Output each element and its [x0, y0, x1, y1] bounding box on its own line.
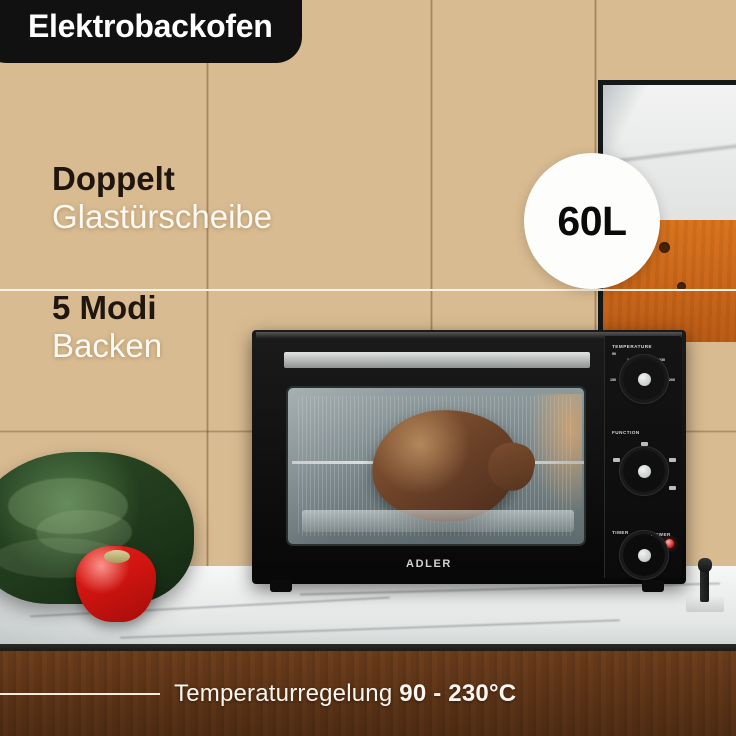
- red-bell-pepper: [76, 546, 156, 622]
- pepper-stem: [104, 550, 130, 563]
- temperature-tick-150: 150: [610, 378, 616, 382]
- function-knob-label: FUNCTION: [612, 430, 640, 435]
- feature-divider: [0, 289, 736, 291]
- board-hole: [659, 242, 670, 253]
- function-tick: [641, 442, 648, 446]
- temperature-tick-90: 90: [612, 352, 616, 356]
- bottom-banner: Temperaturregelung 90 - 230°C: [0, 651, 736, 736]
- title-badge: Elektrobackofen: [0, 0, 302, 63]
- timer-knob[interactable]: [623, 534, 665, 576]
- feature-subline: Glastürscheibe: [52, 198, 420, 236]
- oven-brand-logo: ADLER: [392, 556, 466, 572]
- feature-subline: Backen: [52, 327, 420, 365]
- power-led-indicator: [665, 539, 674, 548]
- oven-baking-tray: [302, 510, 574, 532]
- oven-foot: [642, 580, 664, 592]
- oven-glass-door[interactable]: [286, 386, 586, 546]
- feature-headline: Doppelt: [52, 160, 420, 198]
- feature-item-modes: 5 Modi Backen: [0, 289, 420, 366]
- feature-spacer: [0, 237, 420, 289]
- banner-rule: [0, 693, 160, 695]
- function-tick: [613, 458, 620, 462]
- electric-oven: ADLER TEMPERATURE 90 100 230 150 200 FUN…: [252, 330, 686, 592]
- banner-label: Temperaturregelung: [174, 680, 392, 707]
- brand-label: ADLER: [406, 558, 452, 570]
- temperature-knob-label: TEMPERATURE: [612, 344, 652, 349]
- volume-badge: 60L: [524, 153, 660, 289]
- temperature-tick-200: 200: [669, 378, 675, 382]
- feature-item-glass-door: Doppelt Glastürscheibe: [0, 160, 420, 237]
- feature-list: Doppelt Glastürscheibe 5 Modi Backen: [0, 160, 420, 365]
- temperature-tick-230: 230: [659, 358, 665, 362]
- page-title: Elektrobackofen: [28, 8, 272, 45]
- product-advertisement: ADLER TEMPERATURE 90 100 230 150 200 FUN…: [0, 0, 736, 736]
- function-tick: [669, 486, 676, 490]
- function-tick: [669, 458, 676, 462]
- timer-knob-label: TIMER: [612, 530, 629, 535]
- feature-headline: 5 Modi: [52, 289, 420, 327]
- oven-foot: [270, 580, 292, 592]
- oven-body: ADLER TEMPERATURE 90 100 230 150 200 FUN…: [252, 330, 686, 584]
- faucet-head: [698, 558, 712, 572]
- banner-value: 90 - 230°C: [399, 680, 516, 707]
- oven-interior-lamp-glow: [528, 394, 582, 514]
- temperature-knob[interactable]: [623, 358, 665, 400]
- oven-control-panel: TEMPERATURE 90 100 230 150 200 FUNCTION …: [604, 336, 682, 578]
- marble-vein: [120, 619, 620, 638]
- banner-text: Temperaturregelung 90 - 230°C: [174, 680, 516, 708]
- volume-badge-label: 60L: [557, 198, 626, 245]
- function-knob[interactable]: [623, 450, 665, 492]
